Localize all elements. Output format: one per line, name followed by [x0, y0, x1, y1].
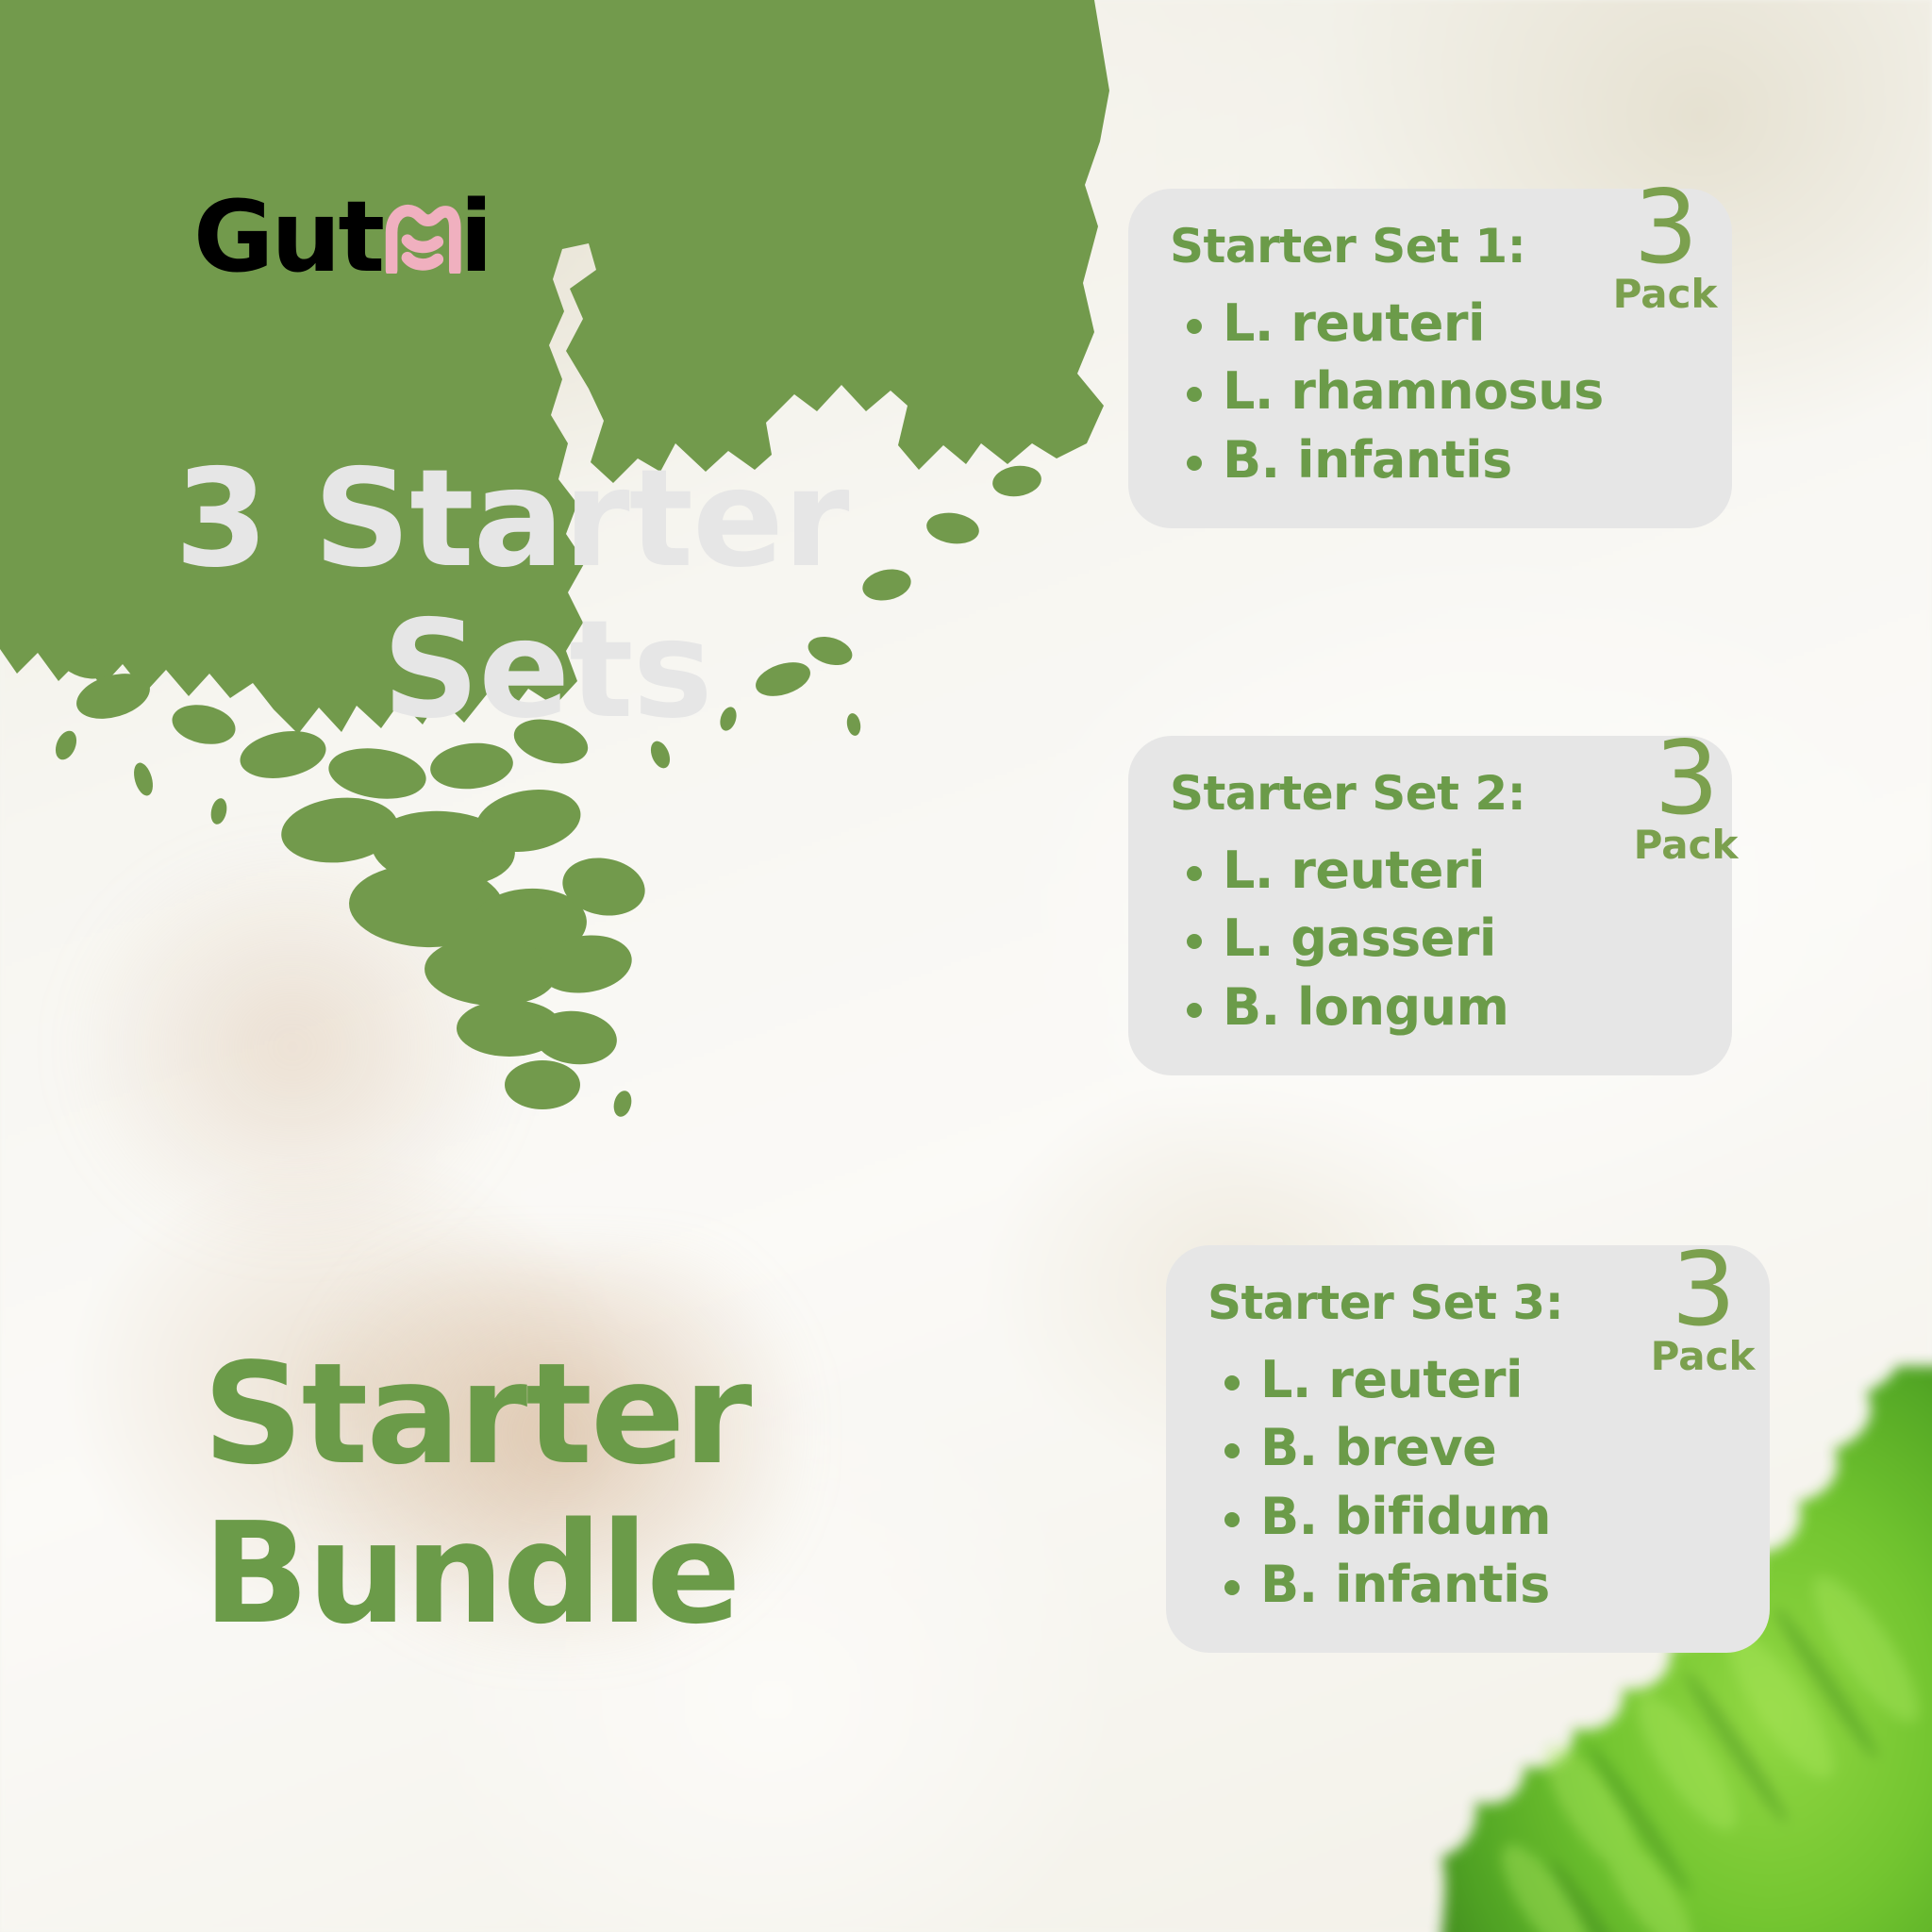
list-item: L. reuteri — [1260, 1346, 1728, 1414]
strain-list: L. reuteri B. breve B. bifidum B. infant… — [1207, 1346, 1728, 1619]
logo-wordmark-prefix: Gut — [193, 188, 382, 286]
intestine-icon — [382, 194, 461, 274]
headline-line-2: Sets — [175, 594, 967, 745]
list-item: B. longum — [1223, 974, 1690, 1041]
list-item: B. infantis — [1260, 1551, 1728, 1619]
list-item: L. rhamnosus — [1223, 358, 1690, 425]
list-item: B. infantis — [1223, 426, 1690, 494]
product-name: Starter Bundle — [203, 1335, 920, 1653]
list-item: L. reuteri — [1223, 837, 1690, 905]
list-item: B. breve — [1260, 1414, 1728, 1482]
list-item: L. gasseri — [1223, 905, 1690, 973]
product-name-line-1: Starter — [203, 1335, 920, 1494]
starter-set-card-3[interactable]: Starter Set 3: L. reuteri B. breve B. bi… — [1166, 1245, 1770, 1653]
list-item: B. bifidum — [1260, 1483, 1728, 1551]
starter-set-card-1[interactable]: Starter Set 1: L. reuteri L. rhamnosus B… — [1128, 189, 1732, 528]
card-title: Starter Set 2: — [1170, 768, 1690, 820]
strain-list: L. reuteri L. gasseri B. longum — [1170, 837, 1690, 1041]
promo-graphic: Gut i 3 Starter Sets Starter Bundle Star… — [0, 0, 1932, 1932]
logo-wordmark-suffix: i — [459, 188, 491, 286]
list-item: L. reuteri — [1223, 290, 1690, 358]
card-title: Starter Set 3: — [1207, 1277, 1728, 1329]
card-title: Starter Set 1: — [1170, 221, 1690, 273]
page-title: 3 Starter Sets — [175, 443, 967, 745]
brand-logo[interactable]: Gut i — [193, 185, 491, 289]
starter-set-card-2[interactable]: Starter Set 2: L. reuteri L. gasseri B. … — [1128, 736, 1732, 1075]
headline-line-1: 3 Starter — [175, 443, 967, 594]
product-name-line-2: Bundle — [203, 1494, 920, 1654]
strain-list: L. reuteri L. rhamnosus B. infantis — [1170, 290, 1690, 494]
